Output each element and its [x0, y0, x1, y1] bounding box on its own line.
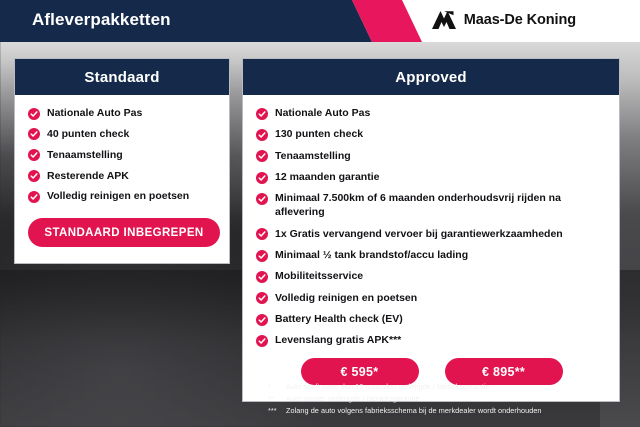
afleverpakketten-page: Afleverpakketten Maas-De Koning Standaar…	[0, 0, 640, 427]
check-circle-icon	[256, 271, 268, 283]
footnote-marker: **	[268, 393, 286, 405]
standaard-inbegrepen-button[interactable]: STANDAARD INBEGREPEN	[28, 218, 220, 247]
package-card-standaard: Standaard Nationale Auto Pas 40 punten c…	[14, 58, 230, 264]
list-item: Minimaal 7.500km of 6 maanden onderhouds…	[256, 192, 607, 220]
footnote-text: Auto heeft meer dan 12 maanden verlengde…	[286, 381, 490, 393]
check-circle-icon	[256, 250, 268, 262]
package-card-approved: Approved Nationale Auto Pas 130 punten c…	[242, 58, 620, 402]
card-title-approved: Approved	[395, 69, 467, 86]
footnote-row: * Auto heeft meer dan 12 maanden verleng…	[268, 381, 628, 393]
list-item: Resterende APK	[28, 170, 217, 184]
feature-text: Resterende APK	[47, 170, 129, 184]
check-circle-icon	[256, 172, 268, 184]
list-item: Nationale Auto Pas	[28, 107, 217, 121]
feature-list-approved: Nationale Auto Pas 130 punten check Tena…	[256, 107, 607, 348]
check-circle-icon	[256, 335, 268, 347]
card-header-standaard: Standaard	[15, 59, 229, 95]
feature-text: Battery Health check (EV)	[275, 313, 403, 327]
check-circle-icon	[28, 128, 40, 140]
list-item: Mobiliteitsservice	[256, 270, 607, 284]
card-body-standaard: Nationale Auto Pas 40 punten check Tenaa…	[15, 95, 229, 263]
check-circle-icon	[256, 193, 268, 205]
feature-text: Tenaamstelling	[275, 150, 351, 164]
card-title-standaard: Standaard	[84, 69, 159, 86]
list-item: Battery Health check (EV)	[256, 313, 607, 327]
check-circle-icon	[256, 150, 268, 162]
feature-text: 40 punten check	[47, 128, 129, 142]
check-circle-icon	[28, 108, 40, 120]
footnotes: * Auto heeft meer dan 12 maanden verleng…	[268, 381, 628, 416]
list-item: 12 maanden garantie	[256, 171, 607, 185]
feature-text: Tenaamstelling	[47, 149, 123, 163]
feature-text: Minimaal 7.500km of 6 maanden onderhouds…	[275, 192, 607, 220]
feature-text: 1x Gratis vervangend vervoer bij garanti…	[275, 228, 563, 242]
brand-logo: Maas-De Koning	[431, 10, 576, 30]
list-item: Nationale Auto Pas	[256, 107, 607, 121]
check-circle-icon	[256, 314, 268, 326]
feature-text: Minimaal ½ tank brandstof/accu lading	[275, 249, 468, 263]
feature-text: Nationale Auto Pas	[47, 107, 142, 121]
footnote-row: *** Zolang de auto volgens fabrieksschem…	[268, 405, 628, 417]
list-item: 1x Gratis vervangend vervoer bij garanti…	[256, 228, 607, 242]
list-item: Tenaamstelling	[256, 150, 607, 164]
list-item: 40 punten check	[28, 128, 217, 142]
footnote-text: Auto zonder verlengde / fabrieksgarantie	[286, 393, 419, 405]
check-circle-icon	[28, 170, 40, 182]
list-item: Levenslang gratis APK***	[256, 334, 607, 348]
card-header-approved: Approved	[243, 59, 619, 95]
footnote-marker: ***	[268, 405, 286, 417]
page-header: Afleverpakketten Maas-De Koning	[0, 0, 640, 42]
check-circle-icon	[28, 191, 40, 203]
footnote-marker: *	[268, 381, 286, 393]
brand-name: Maas-De Koning	[464, 12, 576, 28]
feature-text: Volledig reinigen en poetsen	[275, 292, 417, 306]
list-item: Volledig reinigen en poetsen	[256, 292, 607, 306]
feature-text: Levenslang gratis APK***	[275, 334, 401, 348]
card-body-approved: Nationale Auto Pas 130 punten check Tena…	[243, 95, 619, 401]
maas-de-koning-m-logo-icon	[431, 10, 457, 30]
list-item: 130 punten check	[256, 128, 607, 142]
feature-text: Nationale Auto Pas	[275, 107, 370, 121]
check-circle-icon	[256, 129, 268, 141]
feature-list-standaard: Nationale Auto Pas 40 punten check Tenaa…	[28, 107, 217, 204]
check-circle-icon	[28, 149, 40, 161]
feature-text: Mobiliteitsservice	[275, 270, 363, 284]
feature-text: 12 maanden garantie	[275, 171, 379, 185]
feature-text: Volledig reinigen en poetsen	[47, 190, 189, 204]
list-item: Volledig reinigen en poetsen	[28, 190, 217, 204]
footnote-row: ** Auto zonder verlengde / fabrieksgaran…	[268, 393, 628, 405]
list-item: Minimaal ½ tank brandstof/accu lading	[256, 249, 607, 263]
check-circle-icon	[256, 228, 268, 240]
check-circle-icon	[256, 108, 268, 120]
footnote-text: Zolang de auto volgens fabrieksschema bi…	[286, 405, 542, 417]
feature-text: 130 punten check	[275, 128, 363, 142]
page-title: Afleverpakketten	[32, 10, 171, 30]
check-circle-icon	[256, 292, 268, 304]
list-item: Tenaamstelling	[28, 149, 217, 163]
